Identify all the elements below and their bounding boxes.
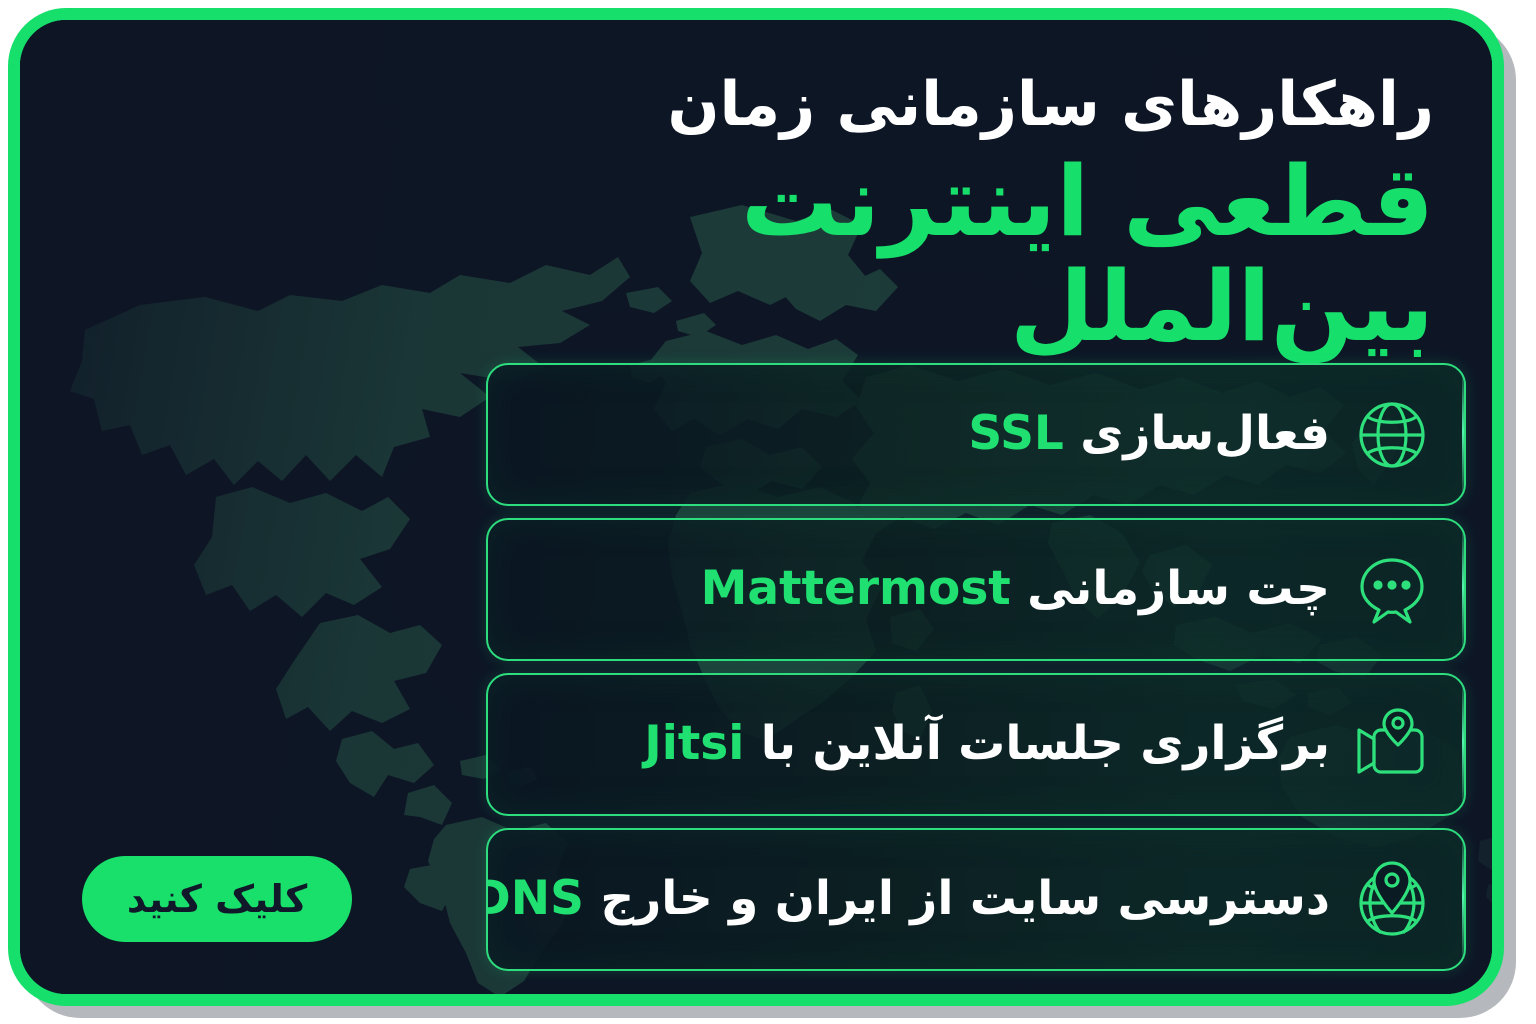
globe-icon bbox=[1346, 389, 1438, 481]
feature-card-label-ssl: فعال‌سازی SSL bbox=[518, 407, 1346, 461]
feature-card-jitsi[interactable]: برگزاری جلسات آنلاین با Jitsi bbox=[486, 673, 1466, 816]
feature-label-en: GeoDNS bbox=[486, 871, 584, 926]
headline-line-2: قطعی اینترنت بین‌الملل bbox=[334, 150, 1434, 360]
feature-label-en: Mattermost bbox=[701, 561, 1011, 616]
feature-label-en: SSL bbox=[968, 406, 1064, 461]
cta-click-button[interactable]: کلیک کنید bbox=[82, 856, 352, 942]
feature-label-fa: دسترسی سایت از ایران و خارج bbox=[584, 871, 1330, 926]
feature-label-fa: فعال‌سازی bbox=[1064, 406, 1330, 461]
page-title: راهکارهای سازمانی زمان قطعی اینترنت بین‌… bbox=[334, 72, 1434, 359]
chat-bubble-icon bbox=[1346, 544, 1438, 636]
feature-card-label-jitsi: برگزاری جلسات آنلاین با Jitsi bbox=[518, 717, 1346, 771]
promo-banner: راهکارهای سازمانی زمان قطعی اینترنت بین‌… bbox=[8, 8, 1504, 1006]
video-camera-pin-icon bbox=[1346, 699, 1438, 791]
feature-label-en: Jitsi bbox=[644, 716, 744, 771]
feature-label-fa: برگزاری جلسات آنلاین با bbox=[744, 716, 1330, 771]
feature-label-fa: چت سازمانی bbox=[1011, 561, 1330, 616]
headline-line-1: راهکارهای سازمانی زمان bbox=[334, 72, 1434, 138]
feature-card-mattermost[interactable]: چت سازمانی Mattermost bbox=[486, 518, 1466, 661]
feature-card-label-mattermost: چت سازمانی Mattermost bbox=[518, 562, 1346, 616]
feature-list: فعال‌سازی SSL چت سازمانی Mattermost bbox=[486, 363, 1466, 983]
feature-card-geodns[interactable]: دسترسی سایت از ایران و خارج GeoDNS bbox=[486, 828, 1466, 971]
feature-card-label-geodns: دسترسی سایت از ایران و خارج GeoDNS bbox=[486, 872, 1346, 926]
feature-card-ssl[interactable]: فعال‌سازی SSL bbox=[486, 363, 1466, 506]
globe-location-pin-icon bbox=[1346, 854, 1438, 946]
